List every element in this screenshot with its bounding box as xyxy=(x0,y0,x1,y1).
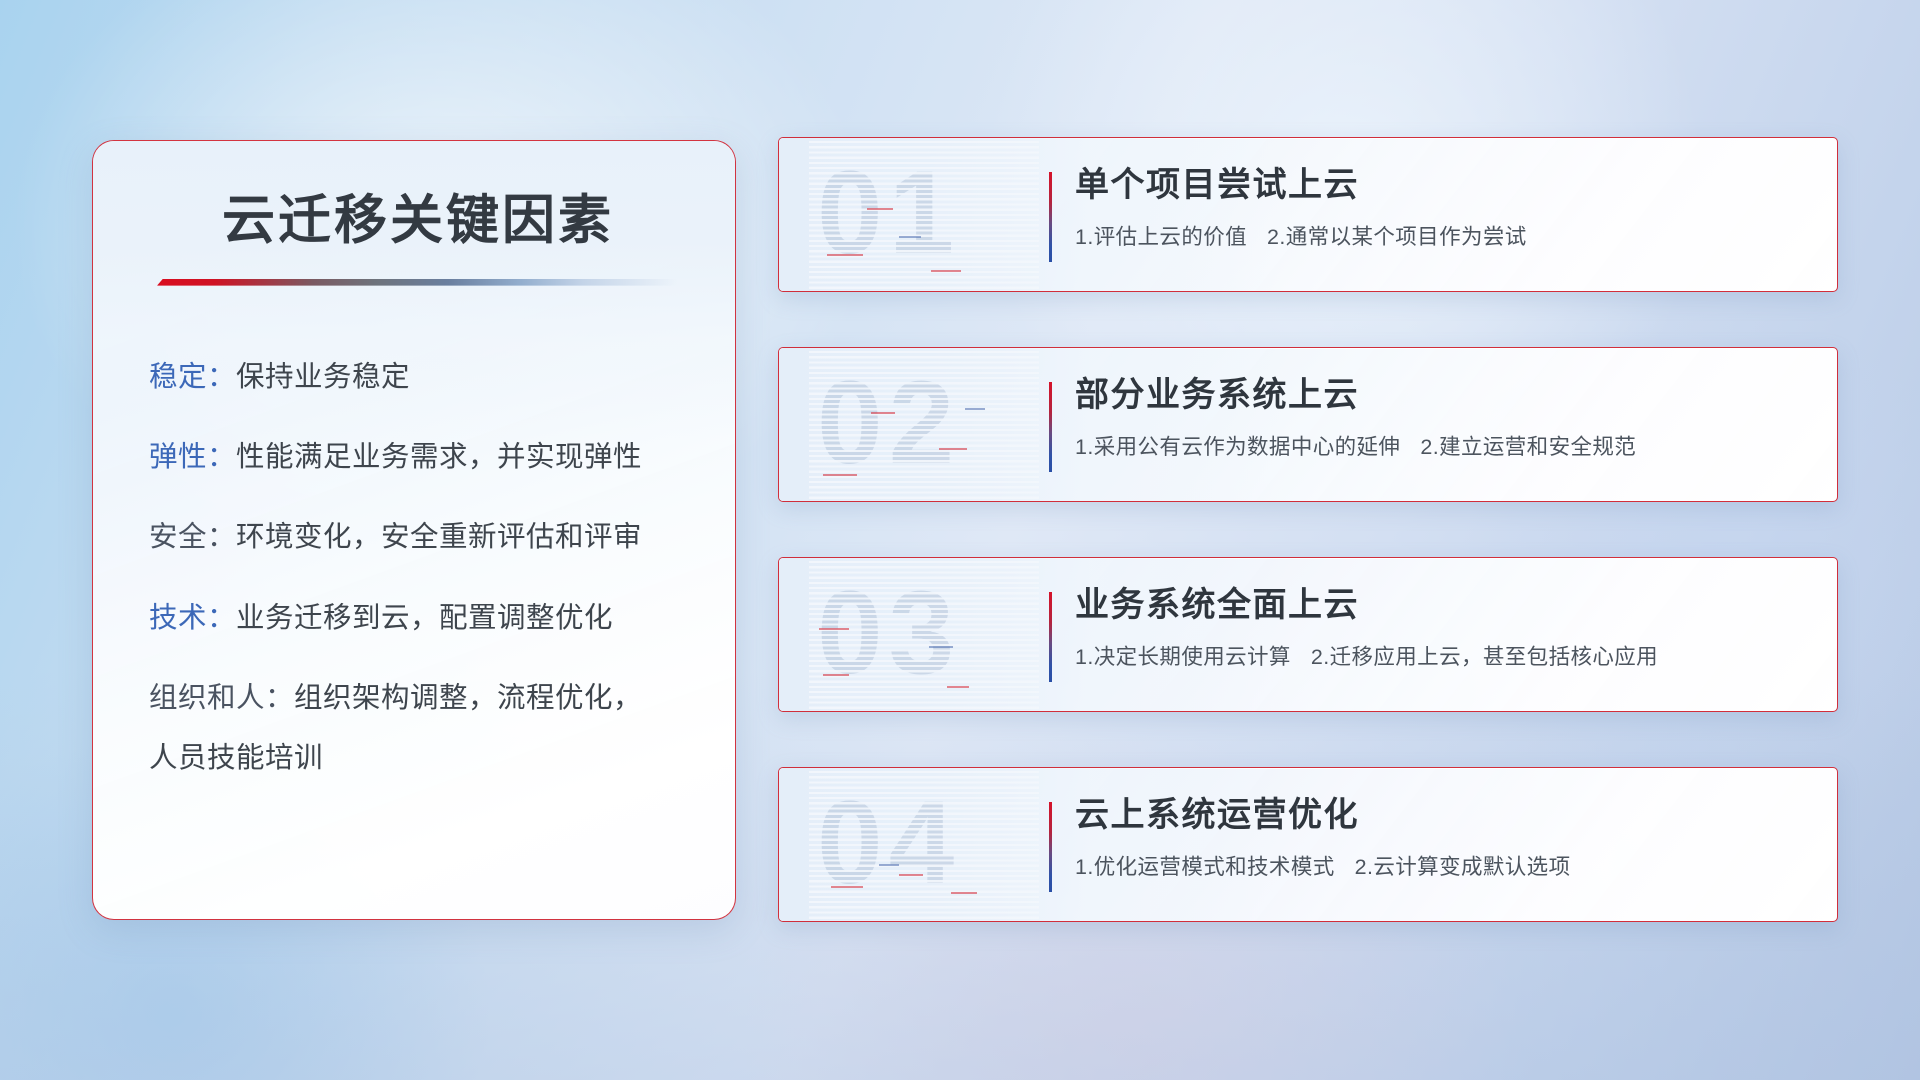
stage-number-watermark: 02 xyxy=(817,347,960,501)
list-item: 组织和人：组织架构调整，流程优化， xyxy=(149,677,691,720)
stage-card[interactable]: 01 单个项目尝试上云 1.评估上云的价值2.通常以某个项目作为尝试 xyxy=(778,137,1838,292)
stage-card-points: 1.采用公有云作为数据中心的延伸2.建立运营和安全规范 xyxy=(1075,430,1813,461)
factor-label: 弹性： xyxy=(149,441,236,473)
stage-point: 2.云计算变成默认选项 xyxy=(1355,855,1571,879)
stage-card[interactable]: 02 部分业务系统上云 1.采用公有云作为数据中心的延伸2.建立运营和安全规范 xyxy=(778,347,1838,502)
stage-card-points: 1.优化运营模式和技术模式2.云计算变成默认选项 xyxy=(1075,850,1813,881)
factor-list: 稳定：保持业务稳定 弹性：性能满足业务需求，并实现弹性 安全：环境变化，安全重新… xyxy=(137,356,691,781)
list-item: 安全：环境变化，安全重新评估和评审 xyxy=(149,516,691,559)
stage-card[interactable]: 03 业务系统全面上云 1.决定长期使用云计算2.迁移应用上云，甚至包括核心应用 xyxy=(778,557,1838,712)
stage-card-body: 业务系统全面上云 1.决定长期使用云计算2.迁移应用上云，甚至包括核心应用 xyxy=(1075,584,1813,671)
stage-card-body: 部分业务系统上云 1.采用公有云作为数据中心的延伸2.建立运营和安全规范 xyxy=(1075,374,1813,461)
factor-value: 组织架构调整，流程优化， xyxy=(294,682,642,714)
watermark-accent-blue-tick xyxy=(965,408,985,410)
page-title: 云迁移关键因素 xyxy=(137,189,691,253)
stage-divider-bar xyxy=(1049,172,1052,262)
factor-value: 性能满足业务需求，并实现弹性 xyxy=(236,441,642,473)
stage-divider-bar xyxy=(1049,592,1052,682)
stage-point: 1.评估上云的价值 xyxy=(1075,225,1247,249)
stage-divider-bar xyxy=(1049,802,1052,892)
stage-point: 2.迁移应用上云，甚至包括核心应用 xyxy=(1311,645,1658,669)
stage-card-title: 业务系统全面上云 xyxy=(1075,584,1813,627)
stage-card-title: 云上系统运营优化 xyxy=(1075,794,1813,837)
factor-value: 环境变化，安全重新评估和评审 xyxy=(236,521,642,553)
factor-label: 技术： xyxy=(149,602,236,634)
stage-point: 1.采用公有云作为数据中心的延伸 xyxy=(1075,435,1400,459)
stage-card-title: 部分业务系统上云 xyxy=(1075,374,1813,417)
factor-label: 安全： xyxy=(149,521,236,553)
factor-value: 业务迁移到云，配置调整优化 xyxy=(236,602,613,634)
stage-point: 2.建立运营和安全规范 xyxy=(1420,435,1636,459)
stage-number-watermark: 04 xyxy=(817,767,960,921)
factor-label: 稳定： xyxy=(149,361,236,393)
stage-card[interactable]: 04 云上系统运营优化 1.优化运营模式和技术模式2.云计算变成默认选项 xyxy=(778,767,1838,922)
stage-card-points: 1.决定长期使用云计算2.迁移应用上云，甚至包括核心应用 xyxy=(1075,640,1813,671)
stage-point: 1.决定长期使用云计算 xyxy=(1075,645,1291,669)
list-item: 技术：业务迁移到云，配置调整优化 xyxy=(149,597,691,640)
stage-point: 2.通常以某个项目作为尝试 xyxy=(1267,225,1527,249)
factor-label: 组织和人： xyxy=(149,682,294,714)
stage-divider-bar xyxy=(1049,382,1052,472)
factor-value: 保持业务稳定 xyxy=(236,361,410,393)
stage-number-watermark: 03 xyxy=(817,557,960,711)
stage-point: 1.优化运营模式和技术模式 xyxy=(1075,855,1335,879)
list-item-continuation: 人员技能培训 xyxy=(149,737,691,780)
stage-card-points: 1.评估上云的价值2.通常以某个项目作为尝试 xyxy=(1075,220,1813,251)
stage-number-watermark: 01 xyxy=(817,137,960,291)
key-factors-panel: 云迁移关键因素 稳定：保持业务稳定 弹性：性能满足业务需求，并实现弹性 安全：环… xyxy=(92,140,736,920)
stage-card-list: 01 单个项目尝试上云 1.评估上云的价值2.通常以某个项目作为尝试 02 部分… xyxy=(778,137,1838,922)
factor-value-continued: 人员技能培训 xyxy=(149,742,323,774)
list-item: 稳定：保持业务稳定 xyxy=(149,356,691,399)
stage-card-body: 单个项目尝试上云 1.评估上云的价值2.通常以某个项目作为尝试 xyxy=(1075,164,1813,251)
list-item: 弹性：性能满足业务需求，并实现弹性 xyxy=(149,436,691,479)
stage-card-body: 云上系统运营优化 1.优化运营模式和技术模式2.云计算变成默认选项 xyxy=(1075,794,1813,881)
stage-card-title: 单个项目尝试上云 xyxy=(1075,164,1813,207)
title-underline-rule xyxy=(157,279,677,286)
